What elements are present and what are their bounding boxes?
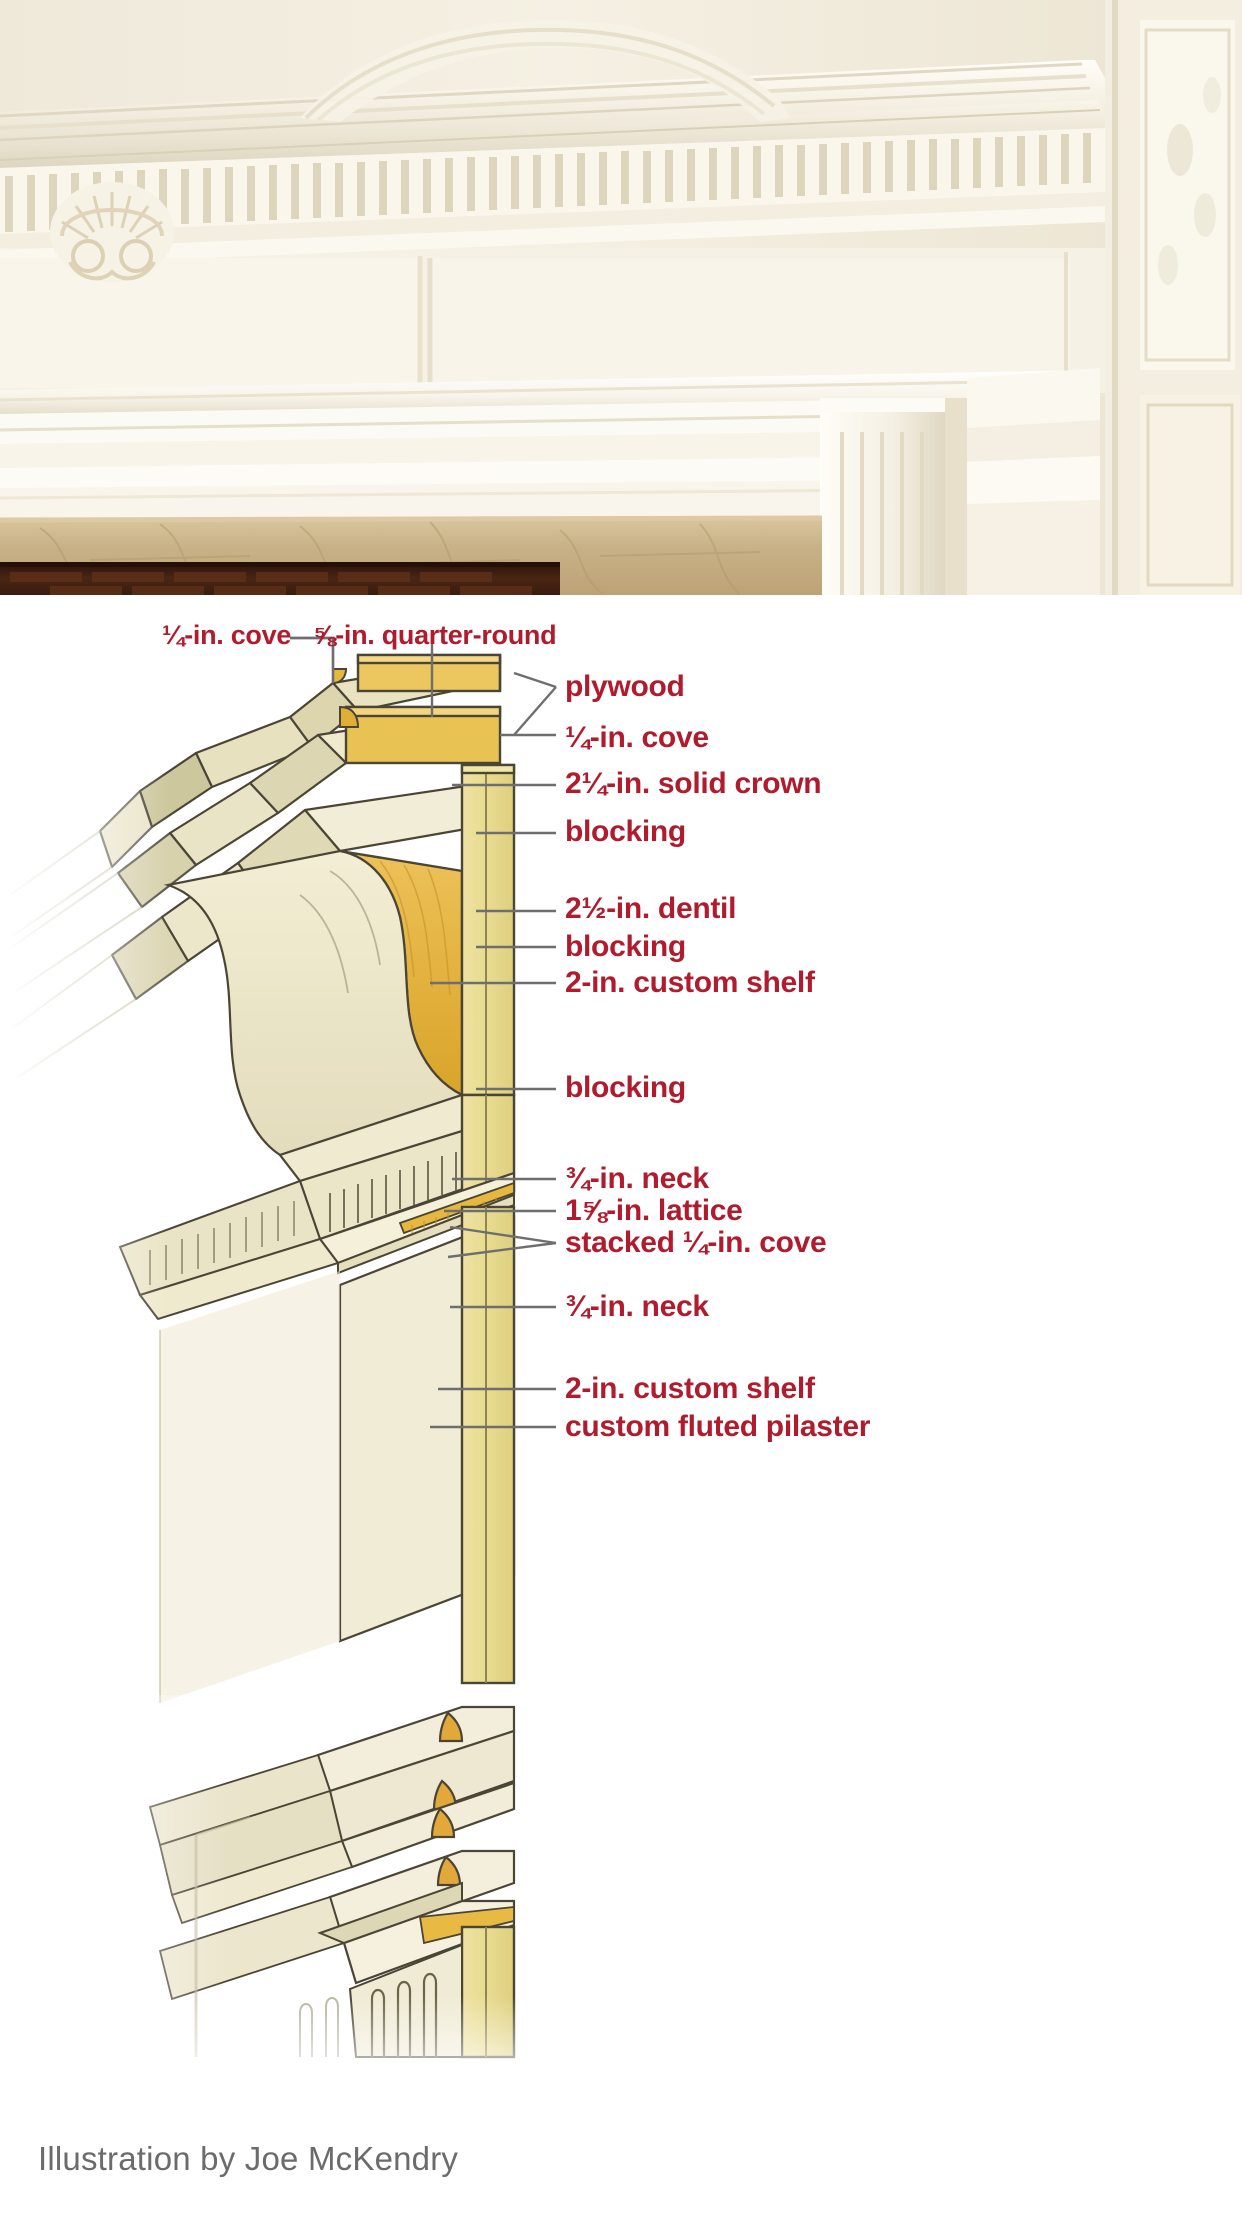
label-neck-lower: ¾-in. neck: [565, 1292, 709, 1322]
photo-rosette-applique: [50, 182, 174, 282]
blocking-board-upper: [462, 765, 514, 1095]
label-plywood: plywood: [565, 672, 685, 702]
label-cove-top: ¼-in. cove: [162, 622, 291, 649]
label-lattice: 1⅝-in. lattice: [565, 1196, 743, 1226]
illustration-credit: Illustration by Joe McKendry: [38, 2140, 458, 2178]
label-custom-shelf-bot: 2-in. custom shelf: [565, 1374, 815, 1404]
label-blocking-crown: blocking: [565, 817, 686, 847]
label-blocking-mid: blocking: [565, 1073, 686, 1103]
label-quarter-round: ⅝-in. quarter-round: [313, 622, 556, 649]
photo-fluted-pilaster: [820, 368, 1100, 595]
label-dentil: 2½-in. dentil: [565, 894, 736, 924]
photo-right-wall: [1105, 0, 1242, 595]
fireplace-photo: [0, 0, 1242, 595]
fireplace-photo-art: [0, 0, 1242, 595]
plywood-boxes: [333, 655, 500, 763]
fade-mask-left-top: [0, 775, 170, 1335]
label-fluted-pilaster: custom fluted pilaster: [565, 1412, 870, 1442]
label-blocking-dentil: blocking: [565, 932, 686, 962]
mantel-detail-page: ¼-in. cove ⅝-in. quarter-round plywood ¼…: [0, 0, 1242, 2230]
label-stacked-cove: stacked ¼-in. cove: [565, 1228, 826, 1258]
label-neck-upper: ¾-in. neck: [565, 1164, 709, 1194]
label-cove-upper: ¼-in. cove: [565, 723, 709, 753]
fade-mask-bottom: [0, 1995, 560, 2105]
label-custom-shelf-top: 2-in. custom shelf: [565, 968, 815, 998]
photo-firebox-opening: [0, 562, 560, 595]
label-solid-crown: 2¼-in. solid crown: [565, 769, 821, 799]
